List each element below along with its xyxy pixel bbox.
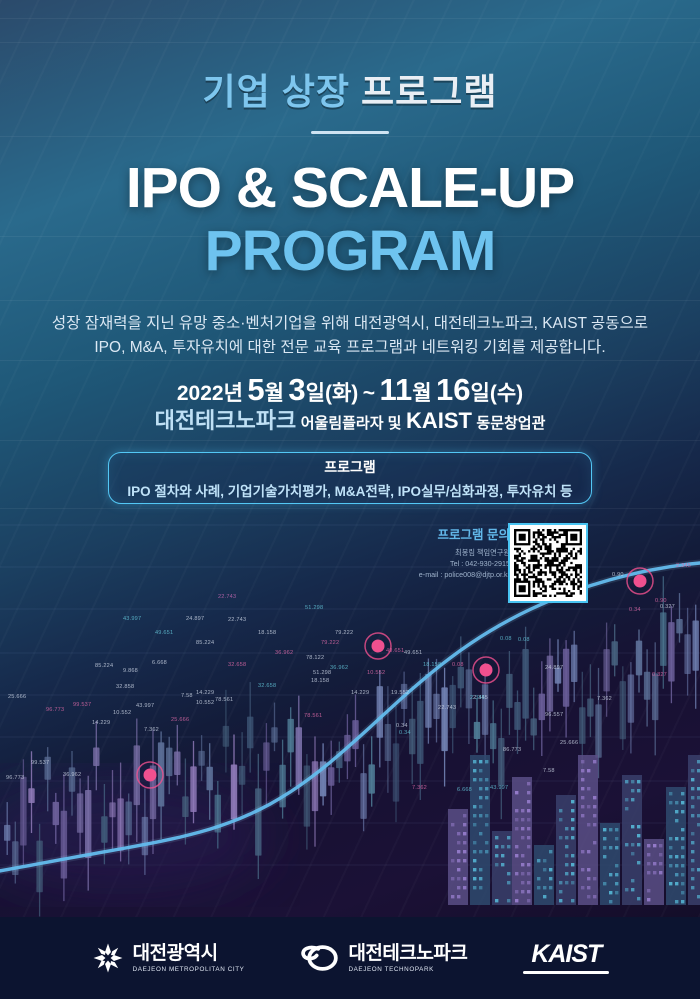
venue-main: 대전테크노파크 (155, 408, 297, 433)
chart-value-label: 7.362 (412, 785, 427, 791)
chart-value-label: 78.561 (215, 697, 233, 703)
chart-value-label: 0.90 (655, 598, 667, 604)
chart-value-label: 32.858 (116, 684, 134, 690)
contact-block: 프로그램 문의 최봉림 책임연구원 Tel : 042-930-2915 e-m… (380, 524, 510, 580)
chart-value-label: 99.537 (31, 760, 49, 766)
schedule-end-day: 16 (436, 372, 470, 407)
chart-value-label: 36.962 (330, 665, 348, 671)
schedule-start-day: 3 (288, 372, 305, 407)
description-block: 성장 잠재력을 지닌 유망 중소·벤처기업을 위해 대전광역시, 대전테크노파크… (40, 312, 660, 360)
chart-value-label: 79.222 (321, 640, 339, 646)
chart-value-label: 96.557 (545, 712, 563, 718)
chart-value-label: 19.552 (391, 690, 409, 696)
chart-value-label: 32.658 (258, 683, 276, 689)
page-title-line2: PROGRAM (0, 223, 700, 280)
chart-value-label: 18.158 (423, 662, 441, 668)
date-range-tilde: ~ (363, 382, 375, 405)
scanline (0, 360, 700, 361)
kicker-white-text: 프로그램 (361, 71, 497, 112)
chart-value-label: 6.668 (457, 787, 472, 793)
chart-value-label: 78.122 (306, 655, 324, 661)
chart-value-label: 0.327 (652, 672, 667, 678)
chart-value-label: 0.34 (399, 730, 411, 736)
description-line-1: 성장 잠재력을 지닌 유망 중소·벤처기업을 위해 대전광역시, 대전테크노파크… (40, 312, 660, 336)
chart-value-label: 0.327 (660, 604, 675, 610)
chart-value-label: 7.58 (543, 768, 555, 774)
logo-2-kr: 대전테크노파크 (348, 944, 467, 963)
chart-value-label: 0.90 (612, 572, 624, 578)
chart-value-label: 85.224 (196, 640, 214, 646)
chart-value-label: 25.666 (8, 694, 26, 700)
chart-value-label: 36.962 (275, 650, 293, 656)
scanline (0, 136, 700, 137)
chart-value-label: 49.651 (155, 630, 173, 636)
schedule-end-month: 11 (379, 372, 412, 407)
chart-value-label: 9.868 (123, 668, 138, 674)
venue-sub-1: 어울림플라자 및 (301, 415, 402, 432)
chart-value-label: 10.552 (367, 670, 385, 676)
chart-value-label: 36.962 (63, 772, 81, 778)
venue-kaist: KAIST (406, 408, 472, 433)
contact-tel: Tel : 042-930-2915 (380, 558, 510, 569)
chart-value-label: 6.668 (152, 660, 167, 666)
contact-email: e-mail : police008@djtp.or.kr (380, 569, 510, 580)
contact-person: 최봉림 책임연구원 (380, 547, 510, 558)
logo-3-kr: KAIST (531, 942, 601, 967)
logo-kaist: KAIST (523, 942, 609, 974)
chart-value-label: 25.666 (560, 740, 578, 746)
chart-value-label: 14.229 (196, 690, 214, 696)
daejeon-city-emblem-icon (91, 941, 125, 975)
page-title-line1: IPO & SCALE-UP (0, 160, 700, 217)
logo-2-en: DAEJEON TECHNOPARK (348, 966, 433, 973)
day-unit-1: 일(화) (306, 382, 359, 405)
qr-code-matrix (514, 529, 582, 597)
qr-code[interactable] (508, 523, 588, 603)
chart-value-label: 78.561 (304, 713, 322, 719)
kicker-blue-text: 기업 상장 (203, 71, 350, 112)
technopark-swirl-icon (300, 943, 340, 973)
chart-value-label: 2.345 (676, 563, 691, 569)
background-stock-chart: 22.74351.29822.74379.22243.99724.89749.6… (0, 505, 700, 935)
chart-value-label: 85.224 (95, 663, 113, 669)
venue-sub-2: 동문창업관 (476, 415, 545, 432)
chart-value-label: 7.362 (597, 696, 612, 702)
contact-heading: 프로그램 문의 (380, 524, 510, 543)
chart-value-label: 22.743 (228, 617, 246, 623)
chart-value-label: 0.34 (629, 607, 641, 613)
schedule-year: 2022년 (177, 382, 243, 405)
chart-value-label: 0.08 (518, 637, 530, 643)
chart-value-label: 49.651 (386, 648, 404, 654)
scanline (0, 18, 700, 19)
chart-value-label: 22.743 (438, 705, 456, 711)
chart-value-label: 2.345 (470, 695, 485, 701)
scanline (0, 440, 700, 441)
month-unit-2: 월 (412, 382, 431, 405)
chart-value-label: 43.997 (490, 785, 508, 791)
chart-value-label: 0.34 (396, 723, 408, 729)
chart-value-label: 0.08 (500, 636, 512, 642)
chart-value-label: 43.997 (136, 703, 154, 709)
chart-value-label: 22.743 (218, 594, 236, 600)
scanline (0, 300, 700, 301)
scanline (0, 42, 700, 43)
logo-1-en: DAEJEON METROPOLITAN CITY (133, 966, 245, 973)
chart-value-label: 0.08 (452, 662, 464, 668)
schedule-dates: 2022년 5월 3일(화) ~ 11월 16일(수) (0, 374, 700, 405)
chart-value-label: 51.298 (313, 670, 331, 676)
divider-rule (311, 131, 389, 134)
chart-value-label: 14.229 (92, 720, 110, 726)
chart-value-label: 7.362 (144, 727, 159, 733)
chart-value-label: 86.773 (503, 747, 521, 753)
chart-value-label: 43.997 (123, 616, 141, 622)
program-box-items: IPO 절차와 사례, 기업기술가치평가, M&A전략, IPO실무/심화과정,… (127, 480, 572, 500)
logo-daejeon-technopark: 대전테크노파크 DAEJEON TECHNOPARK (300, 943, 467, 973)
chart-value-label: 18.158 (258, 630, 276, 636)
program-box-heading: 프로그램 (324, 457, 376, 477)
chart-value-label: 49.651 (404, 650, 422, 656)
chart-value-label: 51.298 (305, 605, 323, 611)
kaist-underline (523, 971, 609, 974)
program-box: 프로그램 IPO 절차와 사례, 기업기술가치평가, M&A전략, IPO실무/… (108, 452, 592, 504)
venue-line: 대전테크노파크 어울림플라자 및 KAIST 동문창업관 (0, 410, 700, 432)
chart-value-label: 32.658 (228, 662, 246, 668)
footer-logos: 대전광역시 DAEJEON METROPOLITAN CITY 대전테크노파크 … (0, 917, 700, 999)
chart-value-label: 25.666 (171, 717, 189, 723)
kicker-heading: 기업 상장 프로그램 (0, 74, 700, 110)
description-line-2: IPO, M&A, 투자유치에 대한 전문 교육 프로그램과 네트워킹 기회를 … (40, 336, 660, 360)
logo-1-kr: 대전광역시 (133, 944, 218, 963)
poster-root: 기업 상장 프로그램 IPO & SCALE-UP PROGRAM 성장 잠재력… (0, 0, 700, 999)
month-unit-1: 월 (265, 382, 284, 405)
chart-value-label: 96.773 (6, 775, 24, 781)
logo-daejeon-metropolitan-city: 대전광역시 DAEJEON METROPOLITAN CITY (91, 941, 245, 975)
chart-value-label: 24.897 (545, 665, 563, 671)
chart-value-label: 10.552 (196, 700, 214, 706)
chart-value-label: 79.222 (335, 630, 353, 636)
chart-value-label: 99.537 (73, 702, 91, 708)
chart-value-label: 18.158 (311, 678, 329, 684)
schedule-start-month: 5 (247, 372, 264, 407)
chart-value-label: 7.58 (181, 693, 193, 699)
day-unit-2: 일(수) (471, 382, 524, 405)
chart-value-label: 14.229 (351, 690, 369, 696)
chart-value-label: 10.552 (113, 710, 131, 716)
chart-value-label: 96.773 (46, 707, 64, 713)
chart-value-label: 24.897 (186, 616, 204, 622)
